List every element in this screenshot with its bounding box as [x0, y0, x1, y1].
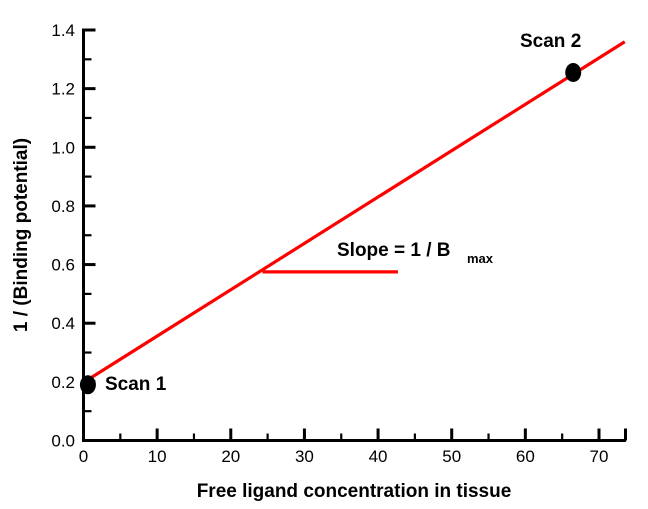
chart-figure: 010203040506070 0.00.20.40.60.81.01.21.4… — [0, 0, 648, 509]
slope-annotation-subscript: max — [467, 251, 494, 266]
y-tick-label: 0.2 — [51, 373, 75, 392]
y-tick-label: 0.4 — [51, 314, 75, 333]
y-axis-tick-labels: 0.00.20.40.60.81.01.21.4 — [51, 21, 75, 451]
x-axis-title: Free ligand concentration in tissue — [197, 481, 512, 502]
x-axis-tick-labels: 010203040506070 — [79, 447, 609, 466]
data-point-marker — [565, 63, 581, 82]
x-tick-label: 20 — [221, 447, 240, 466]
y-tick-label: 0.8 — [51, 197, 75, 216]
x-tick-label: 50 — [442, 447, 461, 466]
x-tick-label: 60 — [516, 447, 535, 466]
y-tick-label: 1.4 — [51, 21, 75, 40]
x-axis-ticks — [84, 429, 626, 441]
y-tick-label: 0.6 — [51, 256, 75, 275]
x-tick-label: 10 — [148, 447, 167, 466]
scan-1-label: Scan 1 — [105, 374, 167, 395]
y-tick-label: 1.2 — [51, 80, 75, 99]
x-tick-label: 0 — [79, 447, 88, 466]
data-point-marker — [80, 375, 96, 394]
y-tick-label: 0.0 — [51, 432, 75, 451]
y-tick-label: 1.0 — [51, 138, 75, 157]
slope-annotation-text: Slope = 1 / B — [337, 240, 451, 261]
regression-trend-line — [84, 42, 625, 383]
scan-2-label: Scan 2 — [520, 31, 581, 52]
x-tick-label: 30 — [295, 447, 314, 466]
x-tick-label: 70 — [590, 447, 609, 466]
x-tick-label: 40 — [369, 447, 388, 466]
plot-canvas: 010203040506070 0.00.20.40.60.81.01.21.4… — [0, 0, 648, 509]
y-axis-title: 1 / (Binding potential) — [11, 138, 32, 332]
